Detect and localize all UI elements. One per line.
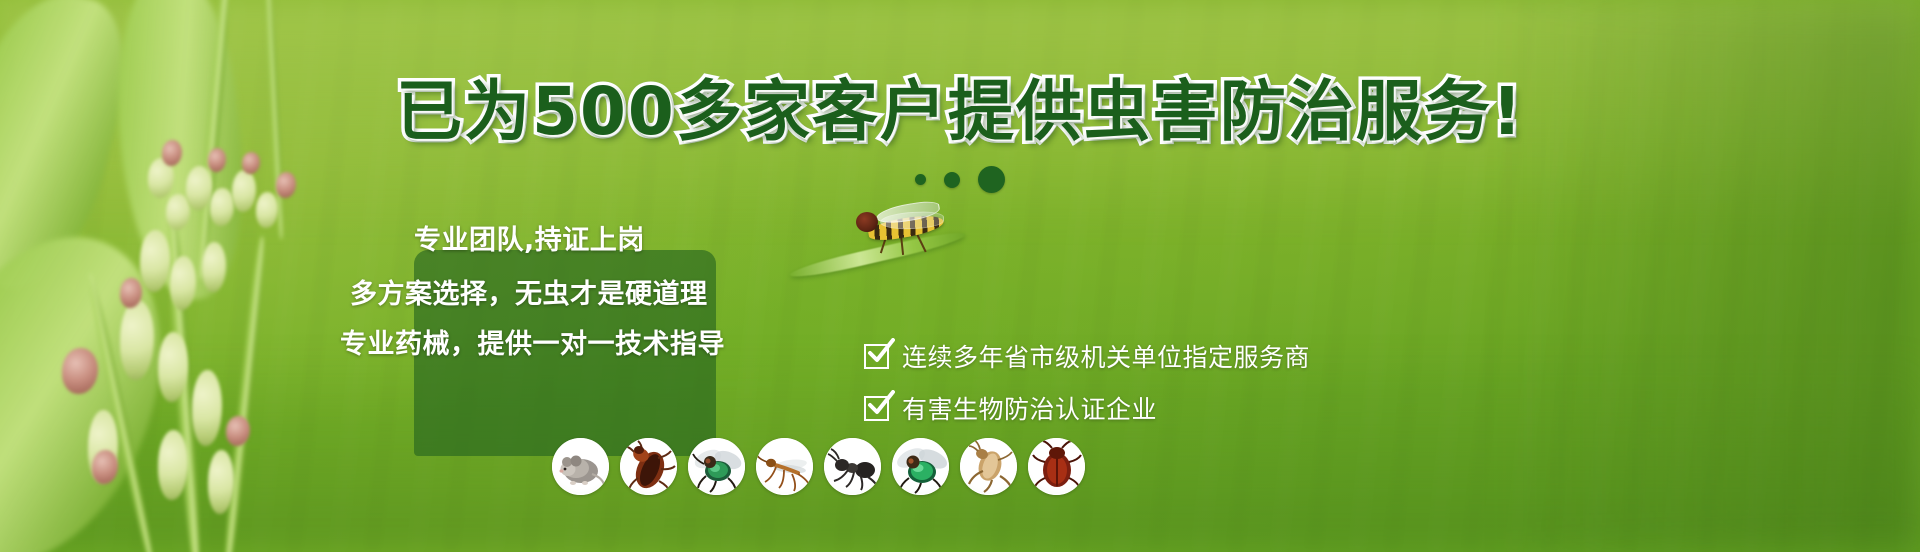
slogan-line-3: 专业药械，提供一对一技术指导 [340,322,725,361]
pest-icon-row [552,438,1085,495]
mouse-icon[interactable] [552,438,609,495]
checklist-label: 有害生物防治认证企业 [902,390,1157,426]
list-item: 连续多年省市级机关单位指定服务商 [864,332,1310,380]
dot-small-icon [915,174,926,185]
fly-icon[interactable] [688,438,745,495]
page-title: 已为500多家客户提供虫害防治服务! [0,72,1920,152]
bedbug-icon[interactable] [1028,438,1085,495]
dot-large-icon [978,166,1005,193]
flea-icon[interactable] [960,438,1017,495]
mosquito-icon[interactable] [756,438,813,495]
checkmark-icon [864,344,889,369]
checkmark-icon [864,396,889,421]
pest-control-hero-banner: 已为500多家客户提供虫害防治服务! 专业团队,持证上岗 多方案选择，无虫才是硬… [0,0,1920,552]
headline-text: 已为500多家客户提供虫害防治服务! [396,73,1524,150]
blowfly-icon[interactable] [892,438,949,495]
slogan-line-2: 多方案选择，无虫才是硬道理 [350,272,708,311]
cockroach-icon[interactable] [620,438,677,495]
list-item: 有害生物防治认证企业 [864,384,1310,432]
ant-icon[interactable] [824,438,881,495]
checklist: 连续多年省市级机关单位指定服务商 有害生物防治认证企业 [864,332,1310,432]
hoverfly-photo [846,200,956,254]
dot-medium-icon [944,172,960,188]
decorative-dots [0,166,1920,193]
slogan-line-1: 专业团队,持证上岗 [414,218,645,257]
checklist-label: 连续多年省市级机关单位指定服务商 [902,338,1310,374]
